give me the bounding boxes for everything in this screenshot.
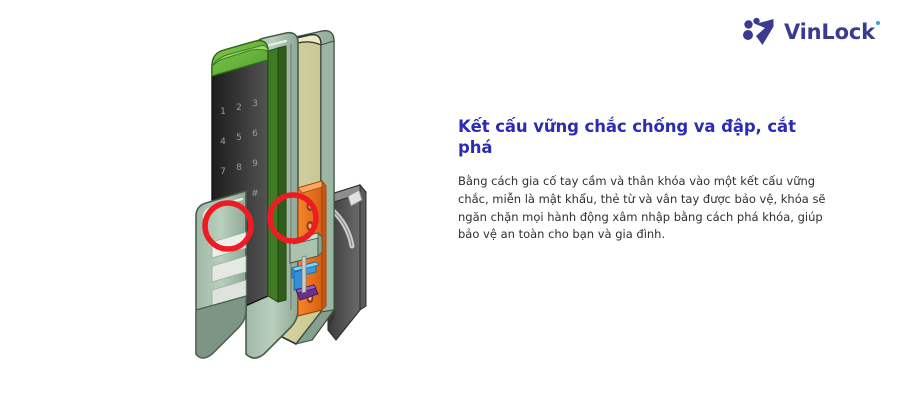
- keypad-key-6: 6: [252, 129, 258, 139]
- brand-logo[interactable]: VinLock: [742, 14, 874, 50]
- smart-door-lock-exploded-diagram: 1 2 3 4 5 6 7 8 9 * 0 #: [160, 10, 400, 370]
- feature-copy-block: Kết cấu vững chắc chống va đập, cắt phá …: [458, 116, 834, 244]
- keypad-key-8: 8: [236, 163, 242, 173]
- page-title: Kết cấu vững chắc chống va đập, cắt phá: [458, 116, 834, 159]
- keypad-key-1: 1: [220, 107, 226, 117]
- smart-door-lock-illustration: 1 2 3 4 5 6 7 8 9 * 0 #: [160, 10, 400, 370]
- brand-name-text: VinLock: [784, 20, 875, 44]
- lock-handle-grip: [196, 191, 246, 358]
- keypad-key-3: 3: [252, 99, 258, 109]
- keypad-key-5: 5: [236, 133, 242, 143]
- brand-accent-dot-icon: [876, 21, 880, 25]
- feature-description: Bằng cách gia cố tay cầm và thân khóa và…: [458, 173, 834, 244]
- keypad-key-4: 4: [220, 137, 226, 147]
- vinlock-v-mark-icon: [742, 16, 778, 48]
- keypad-key-2: 2: [236, 103, 242, 113]
- keypad-key-7: 7: [220, 167, 226, 177]
- keypad-key-9: 9: [252, 159, 258, 169]
- brand-wordmark: VinLock: [784, 22, 880, 43]
- page-root: VinLock: [0, 0, 900, 400]
- keypad-key-hash: #: [251, 189, 259, 199]
